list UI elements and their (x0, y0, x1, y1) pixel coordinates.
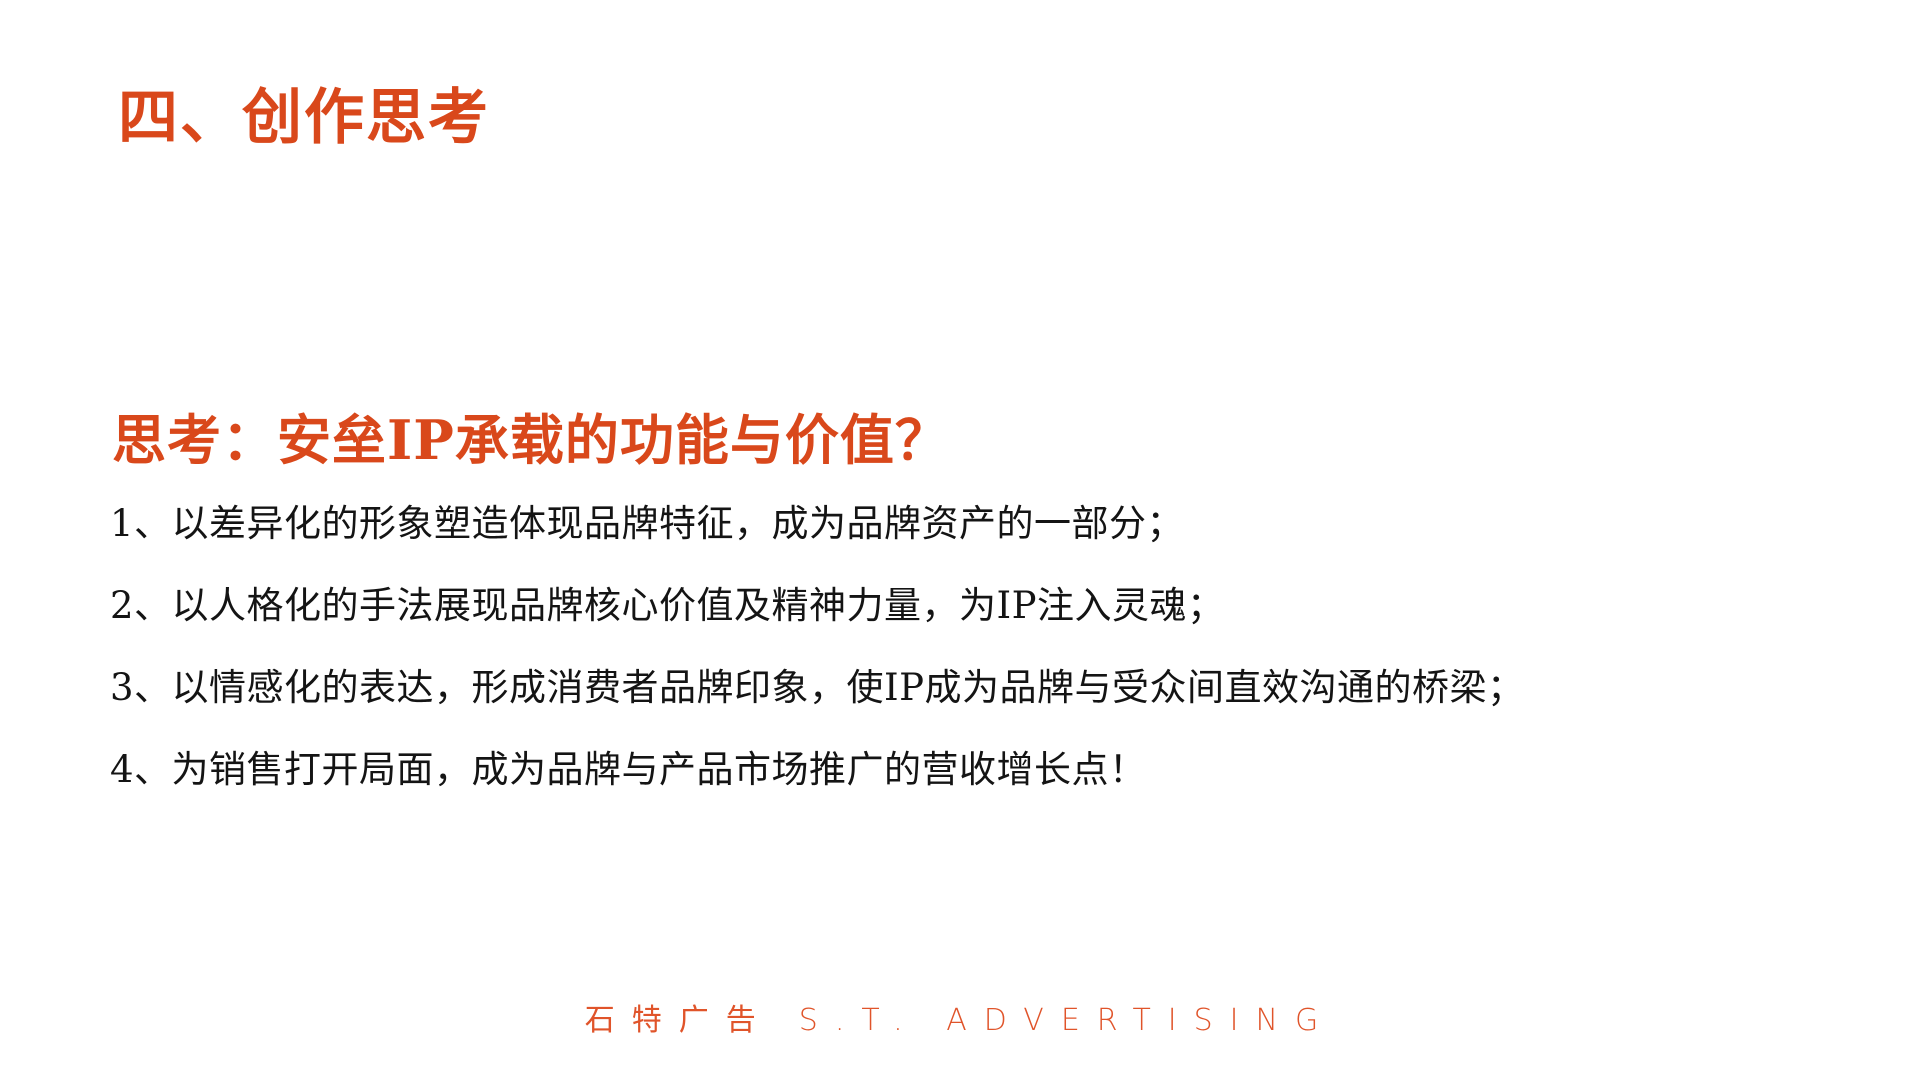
bullet-list: 1、以差异化的形象塑造体现品牌特征，成为品牌资产的一部分； 2、以人格化的手法展… (110, 505, 1850, 833)
question-heading: 思考：安垒IP承载的功能与价值？ (112, 408, 950, 473)
page-title: 四、创作思考 (118, 84, 490, 153)
list-item: 3、以情感化的表达，形成消费者品牌印象，使IP成为品牌与受众间直效沟通的桥梁； (110, 669, 1850, 706)
list-item: 1、以差异化的形象塑造体现品牌特征，成为品牌资产的一部分； (110, 505, 1850, 542)
list-item: 4、为销售打开局面，成为品牌与产品市场推广的营收增长点！ (110, 751, 1850, 788)
footer-brand-chinese: 石特广告 (585, 1003, 773, 1038)
presentation-slide: 四、创作思考 思考：安垒IP承载的功能与价值？ 1、以差异化的形象塑造体现品牌特… (0, 0, 1920, 1080)
list-item: 2、以人格化的手法展现品牌核心价值及精神力量，为IP注入灵魂； (110, 587, 1850, 624)
footer-brand: 石特广告S.T. ADVERTISING (0, 995, 1920, 1039)
footer-brand-english: S.T. ADVERTISING (799, 1003, 1335, 1038)
